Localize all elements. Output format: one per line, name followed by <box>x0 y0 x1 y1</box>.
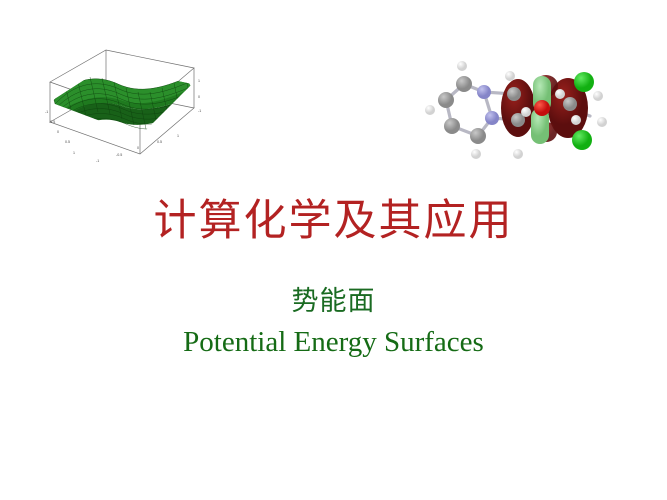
y-tick-label: 0 <box>57 130 59 134</box>
atom-hydrogen <box>457 61 467 71</box>
atom-chlorine <box>574 72 594 92</box>
atom-nitrogen <box>485 111 499 125</box>
title-placeholder: 计算化学及其应用 <box>0 196 667 248</box>
atom-carbon <box>456 76 472 92</box>
atom-chlorine <box>572 130 592 150</box>
x-tick-label: -0.5 <box>116 153 122 157</box>
x-tick-label: 0 <box>137 146 139 150</box>
x-tick-label: 1 <box>177 134 179 138</box>
atom-hydrogen <box>521 107 531 117</box>
z-tick-label: 0 <box>198 95 200 99</box>
atom-nitrogen <box>477 85 491 99</box>
subtitle-chinese: 势能面 <box>0 283 667 319</box>
atom-carbon <box>507 87 521 101</box>
y-tick-label: -0.5 <box>49 120 55 124</box>
molecule-figure <box>418 50 646 176</box>
atom-hydrogen <box>425 105 435 115</box>
x-tick-label: 0.5 <box>157 140 162 144</box>
x-tick-label: -1 <box>96 159 99 163</box>
y-tick-label: 0.5 <box>65 140 70 144</box>
surface-plot-figure: -1 -0.5 0 0.5 1 -1 -0.5 0 0.5 1 -1 0 1 <box>44 44 216 172</box>
y-tick-label: -1 <box>45 110 48 114</box>
atom-hydrogen <box>505 71 515 81</box>
atom-hydrogen <box>593 91 603 101</box>
subtitle-english: Potential Energy Surfaces <box>0 323 667 361</box>
atom-carbon <box>438 92 454 108</box>
atom-oxygen <box>534 100 550 116</box>
atom-hydrogen <box>471 149 481 159</box>
surface-mesh <box>54 78 194 136</box>
atom-carbon <box>470 128 486 144</box>
atom-hydrogen <box>597 117 607 127</box>
atom-hydrogen <box>513 149 523 159</box>
slide-canvas: -1 -0.5 0 0.5 1 -1 -0.5 0 0.5 1 -1 0 1 <box>0 0 667 500</box>
y-tick-label: 1 <box>73 151 75 155</box>
atom-hydrogen <box>571 115 581 125</box>
z-tick-label: 1 <box>198 79 200 83</box>
subtitle-placeholder: 势能面 Potential Energy Surfaces <box>0 283 667 361</box>
page-title: 计算化学及其应用 <box>0 196 667 248</box>
atom-carbon <box>563 97 577 111</box>
atom-carbon <box>444 118 460 134</box>
z-tick-label: -1 <box>198 109 201 113</box>
atom-hydrogen <box>555 89 565 99</box>
